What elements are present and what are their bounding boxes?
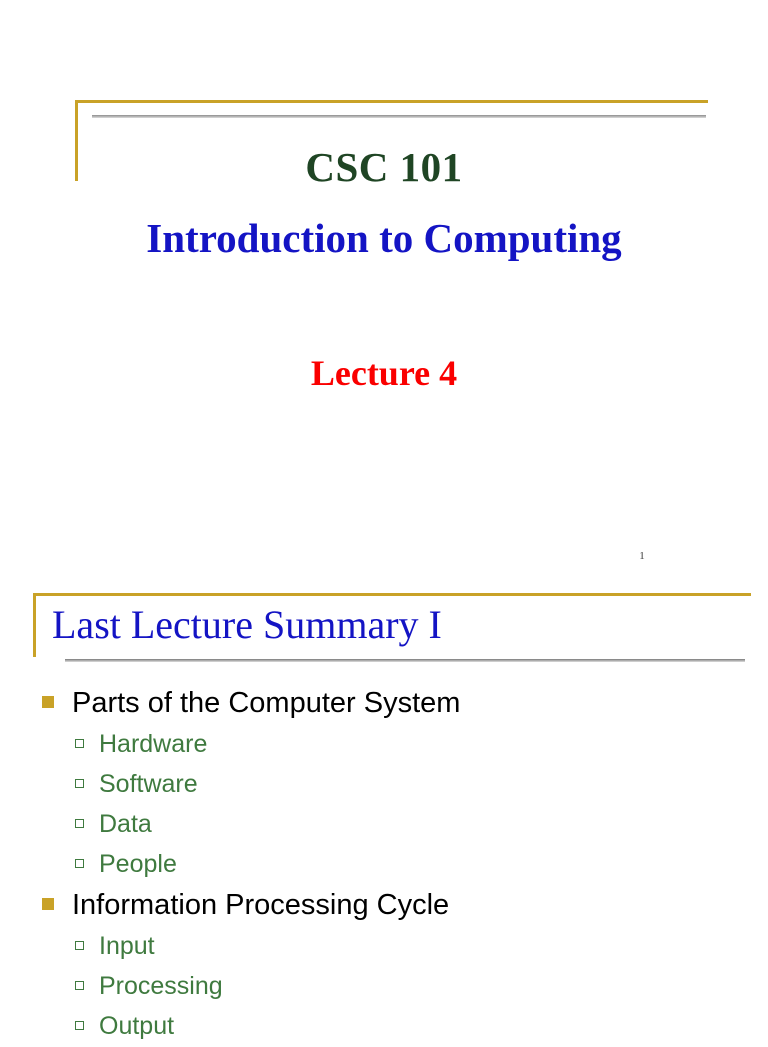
list-item-label: Software <box>99 765 198 804</box>
hollow-square-bullet-icon <box>75 819 84 828</box>
list-item: Data <box>0 805 768 844</box>
slide-2-gold-left-rule <box>33 593 36 657</box>
list-item: Information Processing Cycle <box>0 885 768 925</box>
slide-2-bullet-list: Parts of the Computer System Hardware So… <box>0 683 768 1047</box>
list-item: People <box>0 845 768 884</box>
hollow-square-bullet-icon <box>75 739 84 748</box>
slide-1-page-number: 1 <box>630 550 654 562</box>
slide-1: CSC 101 Introduction to Computing Lectur… <box>0 0 768 585</box>
list-item-label: Hardware <box>99 725 207 764</box>
course-name-heading: Introduction to Computing <box>0 216 768 261</box>
list-item-label: People <box>99 845 177 884</box>
list-item: Hardware <box>0 725 768 764</box>
slide-2-gold-top-rule <box>33 593 751 596</box>
slide-2-title-underline <box>65 659 745 662</box>
filled-square-bullet-icon <box>42 898 54 910</box>
list-item-label: Input <box>99 927 155 966</box>
hollow-square-bullet-icon <box>75 1021 84 1030</box>
slide-1-gold-top-rule <box>75 100 708 103</box>
hollow-square-bullet-icon <box>75 859 84 868</box>
hollow-square-bullet-icon <box>75 981 84 990</box>
lecture-number-heading: Lecture 4 <box>0 354 768 394</box>
list-item: Output <box>0 1007 768 1046</box>
list-item-label: Parts of the Computer System <box>72 683 460 723</box>
list-item-label: Information Processing Cycle <box>72 885 449 925</box>
hollow-square-bullet-icon <box>75 779 84 788</box>
list-item-label: Processing <box>99 967 223 1006</box>
slide-2: Last Lecture Summary I Parts of the Comp… <box>0 585 768 1024</box>
slide-1-gray-rule <box>92 115 706 118</box>
list-item: Processing <box>0 967 768 1006</box>
hollow-square-bullet-icon <box>75 941 84 950</box>
course-code-heading: CSC 101 <box>0 145 768 190</box>
list-item: Input <box>0 927 768 966</box>
filled-square-bullet-icon <box>42 696 54 708</box>
list-item-label: Data <box>99 805 152 844</box>
list-item-label: Output <box>99 1007 174 1046</box>
list-item: Software <box>0 765 768 804</box>
slide-2-title: Last Lecture Summary I <box>52 603 442 648</box>
list-item: Parts of the Computer System <box>0 683 768 723</box>
